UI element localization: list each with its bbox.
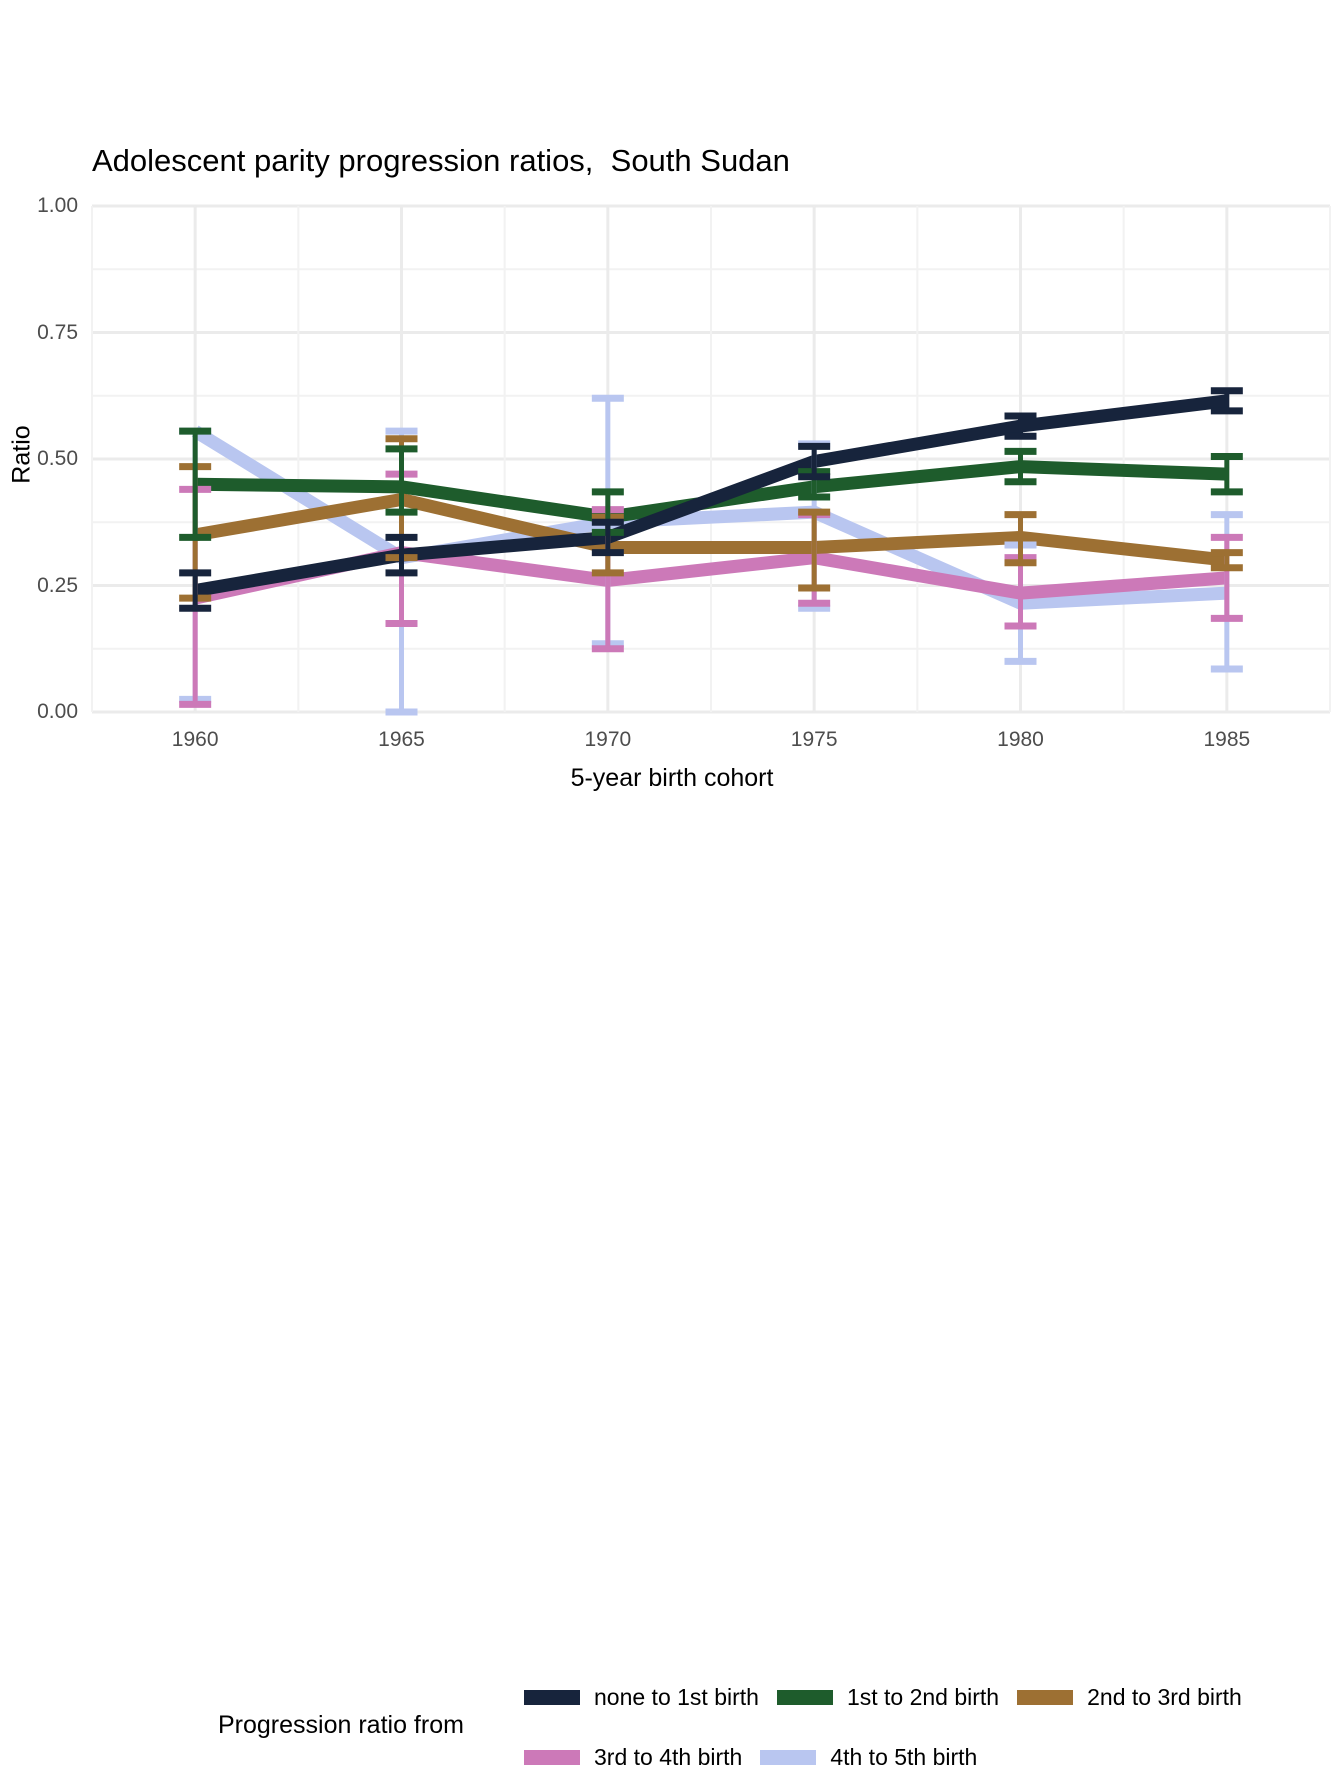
legend-item[interactable]: none to 1st birth xyxy=(524,1684,759,1711)
legend-key-swatch xyxy=(777,1690,833,1705)
y-tick-label: 0.25 xyxy=(8,574,78,598)
y-axis-tick-labels: 0.000.250.500.751.00 xyxy=(0,0,78,960)
y-tick-label: 0.50 xyxy=(8,447,78,471)
legend-item[interactable]: 2nd to 3rd birth xyxy=(1017,1684,1242,1711)
legend-item[interactable]: 3rd to 4th birth xyxy=(524,1744,742,1771)
x-tick-label: 1960 xyxy=(172,728,219,752)
legend-key-swatch xyxy=(760,1750,816,1765)
legend-key-swatch xyxy=(1017,1690,1073,1705)
legend-row-primary: none to 1st birth1st to 2nd birth2nd to … xyxy=(524,1684,1260,1711)
legend-item-label: 1st to 2nd birth xyxy=(847,1684,999,1711)
chart-figure: Adolescent parity progression ratios, So… xyxy=(0,0,1344,960)
x-tick-label: 1970 xyxy=(584,728,631,752)
x-axis-title: 5-year birth cohort xyxy=(0,764,1344,793)
legend-item-label: 4th to 5th birth xyxy=(830,1744,977,1771)
chart-title: Adolescent parity progression ratios, So… xyxy=(92,143,790,179)
x-tick-label: 1965 xyxy=(378,728,425,752)
legend-key-swatch xyxy=(524,1690,580,1705)
legend-item[interactable]: 1st to 2nd birth xyxy=(777,1684,999,1711)
y-tick-label: 0.75 xyxy=(8,321,78,345)
chart-legend: Progression ratio from none to 1st birth… xyxy=(0,836,1344,956)
legend-item-label: 3rd to 4th birth xyxy=(594,1744,742,1771)
x-tick-label: 1975 xyxy=(791,728,838,752)
legend-item-label: none to 1st birth xyxy=(594,1684,759,1711)
legend-row-secondary: 3rd to 4th birth4th to 5th birth xyxy=(524,1744,995,1771)
y-tick-label: 1.00 xyxy=(8,194,78,218)
legend-item-label: 2nd to 3rd birth xyxy=(1087,1684,1242,1711)
legend-key-swatch xyxy=(524,1750,580,1765)
legend-title: Progression ratio from xyxy=(218,1711,464,1740)
x-tick-label: 1980 xyxy=(997,728,1044,752)
x-tick-label: 1985 xyxy=(1203,728,1250,752)
legend-item[interactable]: 4th to 5th birth xyxy=(760,1744,977,1771)
y-tick-label: 0.00 xyxy=(8,700,78,724)
